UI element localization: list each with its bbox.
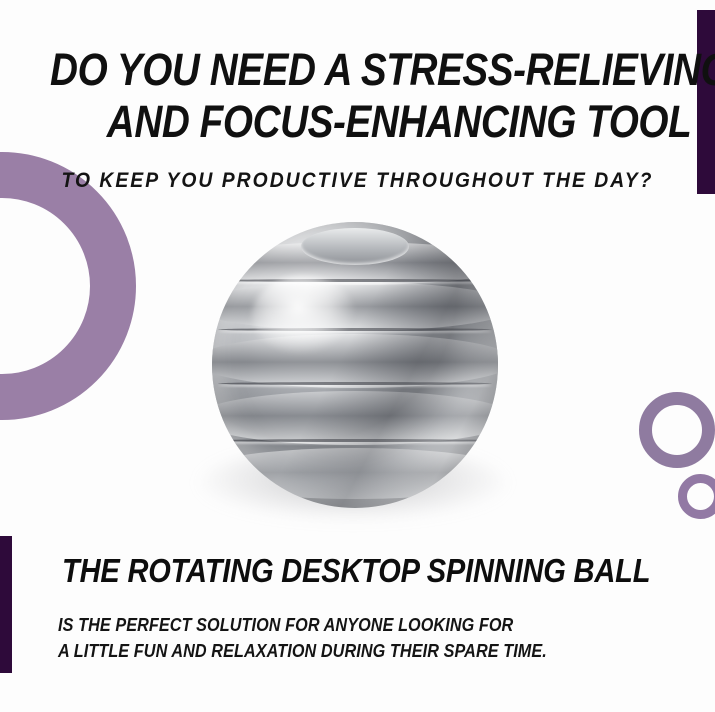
spinning-ball-icon	[212, 222, 498, 508]
ball-rim-shading	[212, 222, 498, 508]
product-description-line-1: IS THE PERFECT SOLUTION FOR ANYONE LOOKI…	[58, 612, 547, 638]
product-image	[188, 210, 518, 530]
purple-ring-right-small-icon	[678, 474, 715, 519]
headline-line-1: DO YOU NEED A STRESS-RELIEVING	[50, 44, 665, 96]
product-description: IS THE PERFECT SOLUTION FOR ANYONE LOOKI…	[58, 612, 547, 664]
product-description-line-2: A LITTLE FUN AND RELAXATION DURING THEIR…	[58, 638, 547, 664]
dark-purple-bar-left	[0, 536, 12, 673]
dark-purple-bar-right	[697, 10, 715, 194]
headline: DO YOU NEED A STRESS-RELIEVING AND FOCUS…	[0, 44, 715, 148]
product-title: THE ROTATING DESKTOP SPINNING BALL	[62, 552, 650, 590]
purple-ring-right-icon	[639, 392, 715, 468]
promo-poster: DO YOU NEED A STRESS-RELIEVING AND FOCUS…	[0, 0, 715, 712]
headline-line-2: AND FOCUS-ENHANCING TOOL	[50, 96, 665, 148]
subheadline: TO KEEP YOU PRODUCTIVE THROUGHOUT THE DA…	[29, 168, 687, 194]
